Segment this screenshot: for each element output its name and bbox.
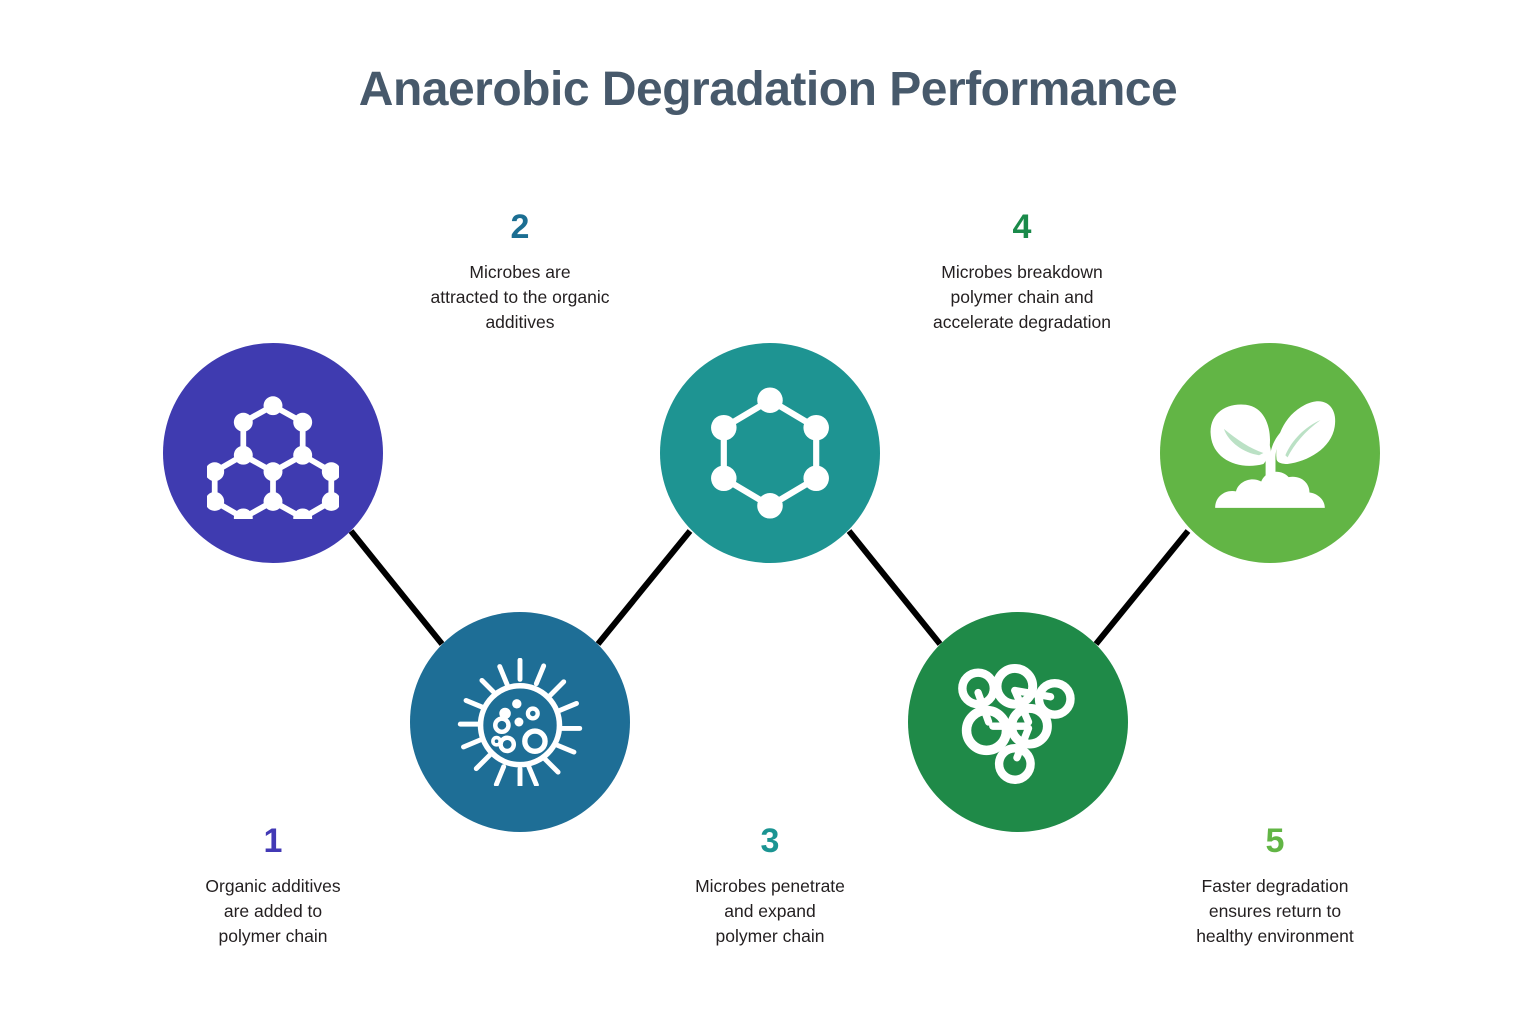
- step-caption-2: 2 Microbes are attracted to the organic …: [396, 210, 644, 335]
- step-description-4: Microbes breakdown polymer chain and acc…: [893, 260, 1151, 335]
- seedling-plant-icon: [1202, 387, 1338, 519]
- step-description-1: Organic additives are added to polymer c…: [158, 874, 388, 949]
- step-description-line: and expand: [655, 899, 885, 924]
- step-description-3: Microbes penetrate and expand polymer ch…: [655, 874, 885, 949]
- microbe-icon: [456, 658, 584, 786]
- step-description-line: ensures return to: [1155, 899, 1395, 924]
- step-caption-1: 1 Organic additives are added to polymer…: [158, 824, 388, 949]
- step-description-line: attracted to the organic: [396, 285, 644, 310]
- fragmented-molecule-network-icon: [955, 659, 1081, 785]
- step-description-2: Microbes are attracted to the organic ad…: [396, 260, 644, 335]
- step-description-line: are added to: [158, 899, 388, 924]
- step-number-2: 2: [396, 210, 644, 244]
- step-description-line: accelerate degradation: [893, 310, 1151, 335]
- step-caption-4: 4 Microbes breakdown polymer chain and a…: [893, 210, 1151, 335]
- step-description-line: polymer chain: [158, 924, 388, 949]
- step-circle-5[interactable]: [1160, 343, 1380, 563]
- step-description-line: polymer chain and: [893, 285, 1151, 310]
- step-description-5: Faster degradation ensures return to hea…: [1155, 874, 1395, 949]
- step-caption-3: 3 Microbes penetrate and expand polymer …: [655, 824, 885, 949]
- step-number-1: 1: [158, 824, 388, 858]
- step-description-line: polymer chain: [655, 924, 885, 949]
- expanded-hexagon-icon: [704, 387, 836, 519]
- connector-line-3-4: [849, 531, 940, 644]
- step-description-line: Microbes breakdown: [893, 260, 1151, 285]
- step-caption-5: 5 Faster degradation ensures return to h…: [1155, 824, 1395, 949]
- connector-line-2-3: [598, 531, 690, 644]
- step-circle-4[interactable]: [908, 612, 1128, 832]
- infographic-canvas: Anaerobic Degradation Performance: [0, 0, 1536, 1024]
- step-description-line: additives: [396, 310, 644, 335]
- connector-line-4-5: [1096, 531, 1188, 644]
- step-circle-1[interactable]: [163, 343, 383, 563]
- step-number-5: 5: [1155, 824, 1395, 858]
- step-circle-3[interactable]: [660, 343, 880, 563]
- step-number-3: 3: [655, 824, 885, 858]
- step-number-4: 4: [893, 210, 1151, 244]
- step-description-line: Faster degradation: [1155, 874, 1395, 899]
- step-description-line: Microbes penetrate: [655, 874, 885, 899]
- polymer-chain-triple-hexagon-icon: [207, 387, 339, 519]
- connector-line-1-2: [351, 531, 442, 644]
- page-title: Anaerobic Degradation Performance: [0, 62, 1536, 117]
- step-circle-2[interactable]: [410, 612, 630, 832]
- step-description-line: Microbes are: [396, 260, 644, 285]
- step-description-line: Organic additives: [158, 874, 388, 899]
- step-description-line: healthy environment: [1155, 924, 1395, 949]
